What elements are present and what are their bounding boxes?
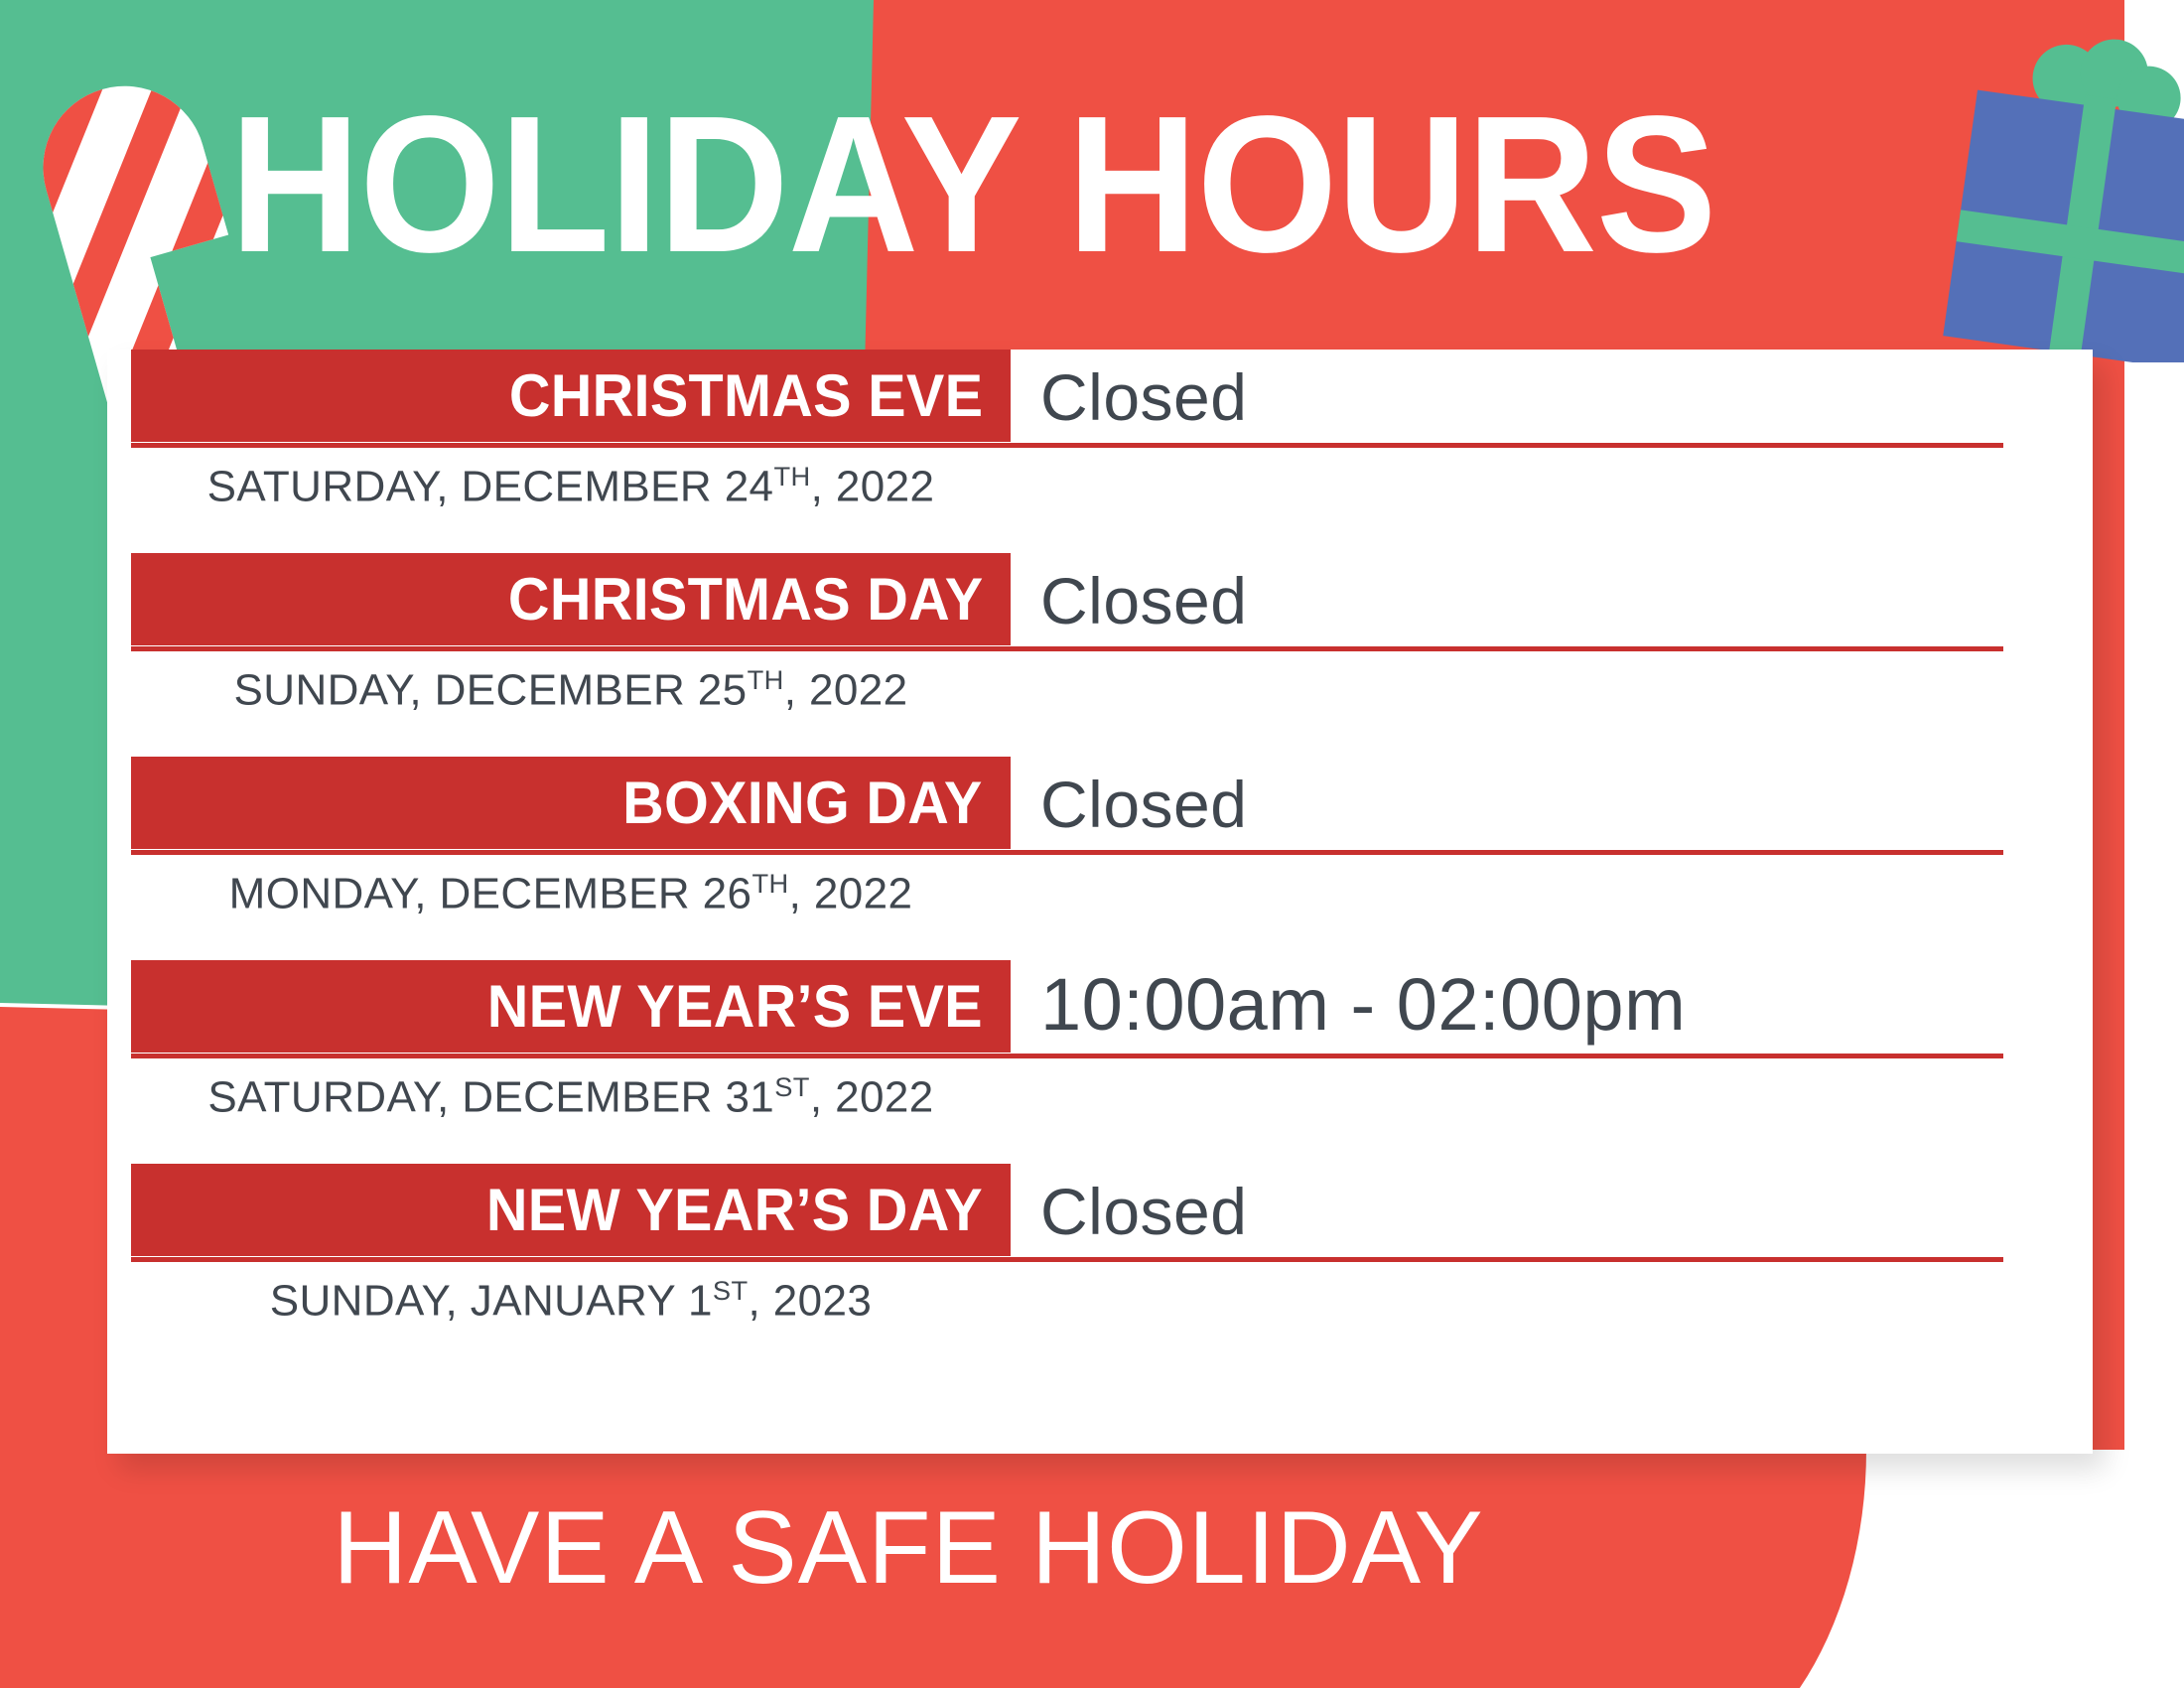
- gift-box-icon: [1941, 35, 2184, 362]
- holiday-name-bar: CHRISTMAS DAY: [131, 553, 1011, 645]
- row-underline: [131, 443, 2003, 448]
- holiday-hours-value: 10:00am - 02:00pm: [1040, 962, 1686, 1047]
- holiday-name-bar: NEW YEAR’S EVE: [131, 960, 1011, 1053]
- holiday-date-suffix: ST: [713, 1275, 749, 1306]
- holiday-date-suffix: TH: [773, 461, 810, 492]
- holiday-date-year: , 2022: [784, 666, 908, 715]
- holiday-date-year: , 2022: [810, 1073, 934, 1122]
- holiday-hours-value: Closed: [1040, 1174, 1247, 1249]
- schedule-rows: CHRISTMAS EVE Closed SATURDAY, DECEMBER …: [107, 350, 2093, 1454]
- holiday-name: NEW YEAR’S DAY: [486, 1176, 983, 1244]
- holiday-date: SATURDAY, DECEMBER 31ST, 2022: [131, 1071, 1011, 1123]
- row-underline: [131, 1257, 2003, 1262]
- row-underline: [131, 646, 2003, 651]
- holiday-date-suffix: TH: [748, 664, 784, 695]
- holiday-hours-poster: HOLIDAY HOURS CHRISTMAS EVE Closed SATUR…: [0, 0, 2184, 1688]
- holiday-date-main: SATURDAY, DECEMBER 24: [207, 463, 774, 511]
- holiday-date: SATURDAY, DECEMBER 24TH, 2022: [131, 461, 1011, 512]
- footer-message: HAVE A SAFE HOLIDAY: [0, 1489, 1817, 1608]
- holiday-date: SUNDAY, JANUARY 1ST, 2023: [131, 1275, 1011, 1327]
- holiday-date-main: SATURDAY, DECEMBER 31: [207, 1073, 774, 1122]
- page-title: HOLIDAY HOURS: [68, 87, 1878, 282]
- holiday-name: NEW YEAR’S EVE: [487, 972, 983, 1041]
- holiday-date-year: , 2022: [789, 870, 913, 918]
- holiday-name-bar: NEW YEAR’S DAY: [131, 1164, 1011, 1256]
- holiday-name: CHRISTMAS DAY: [508, 565, 983, 633]
- holiday-date-year: , 2023: [749, 1277, 873, 1326]
- holiday-date-main: MONDAY, DECEMBER 26: [229, 870, 752, 918]
- holiday-hours-value: Closed: [1040, 563, 1247, 638]
- holiday-name-bar: CHRISTMAS EVE: [131, 350, 1011, 442]
- holiday-hours-value: Closed: [1040, 359, 1247, 435]
- row-underline: [131, 850, 2003, 855]
- holiday-name: CHRISTMAS EVE: [509, 361, 983, 430]
- holiday-hours-value: Closed: [1040, 767, 1247, 842]
- holiday-date-main: SUNDAY, JANUARY 1: [270, 1277, 713, 1326]
- holiday-name: BOXING DAY: [623, 769, 983, 837]
- holiday-date-year: , 2022: [811, 463, 935, 511]
- holiday-name-bar: BOXING DAY: [131, 757, 1011, 849]
- holiday-date-suffix: ST: [774, 1071, 810, 1102]
- row-underline: [131, 1054, 2003, 1058]
- schedule-card: CHRISTMAS EVE Closed SATURDAY, DECEMBER …: [107, 350, 2093, 1454]
- holiday-date-suffix: TH: [751, 868, 788, 899]
- holiday-date: MONDAY, DECEMBER 26TH, 2022: [131, 868, 1011, 919]
- holiday-date-main: SUNDAY, DECEMBER 25: [234, 666, 748, 715]
- holiday-date: SUNDAY, DECEMBER 25TH, 2022: [131, 664, 1011, 716]
